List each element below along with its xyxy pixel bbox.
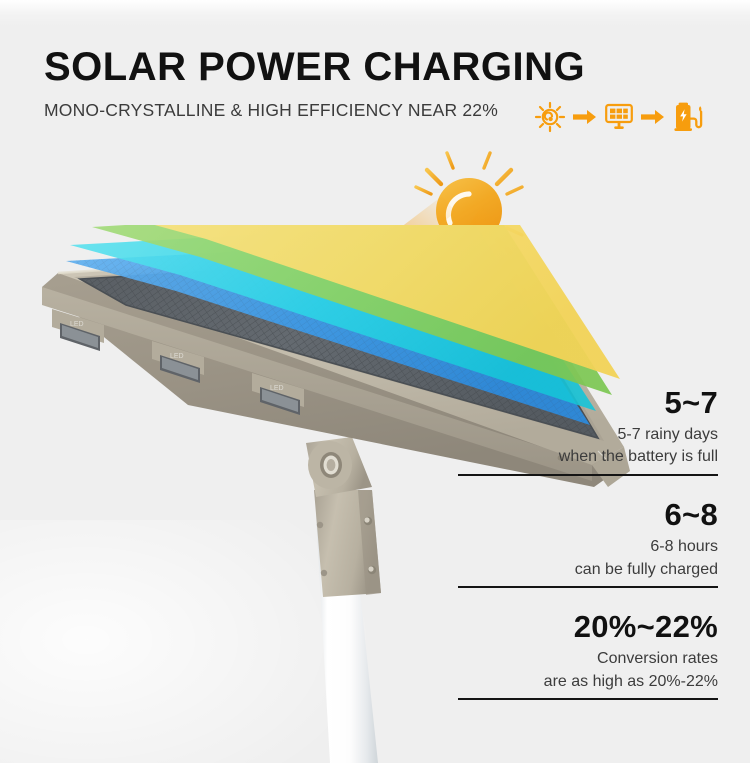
svg-text:LED: LED — [170, 353, 184, 360]
svg-text:LED: LED — [270, 385, 284, 392]
arrow-right-icon — [641, 108, 665, 126]
stat-line-1: 6-8 hours — [458, 536, 718, 559]
stat-line-2: can be fully charged — [458, 559, 718, 589]
background-top-wash — [0, 0, 750, 26]
stat-value: 6~8 — [458, 498, 718, 533]
svg-text:LED: LED — [70, 321, 84, 328]
stat-line-2: are as high as 20%-22% — [458, 671, 718, 701]
stat-value: 20%~22% — [458, 610, 718, 645]
poster-canvas: SOLAR POWER CHARGING MONO-CRYSTALLINE & … — [0, 0, 750, 763]
stat-rainy-days: 5~7 5-7 rainy days when the battery is f… — [458, 386, 718, 476]
mounting-bracket — [314, 490, 381, 597]
stat-conversion-rate: 20%~22% Conversion rates are as high as … — [458, 610, 718, 700]
stat-value: 5~7 — [458, 386, 718, 421]
charging-station-icon — [672, 100, 706, 134]
stat-line-1: Conversion rates — [458, 648, 718, 671]
stat-charge-hours: 6~8 6-8 hours can be fully charged — [458, 498, 718, 588]
solar-panel-icon — [604, 101, 634, 133]
sun-icon — [534, 101, 566, 133]
arrow-right-icon — [573, 108, 597, 126]
stat-line-2: when the battery is full — [458, 446, 718, 476]
energy-flow-diagram — [534, 100, 706, 134]
specs-list: 5~7 5-7 rainy days when the battery is f… — [458, 386, 718, 700]
stat-line-1: 5-7 rainy days — [458, 424, 718, 447]
page-title: SOLAR POWER CHARGING — [44, 46, 714, 88]
tilt-joint — [306, 437, 372, 497]
